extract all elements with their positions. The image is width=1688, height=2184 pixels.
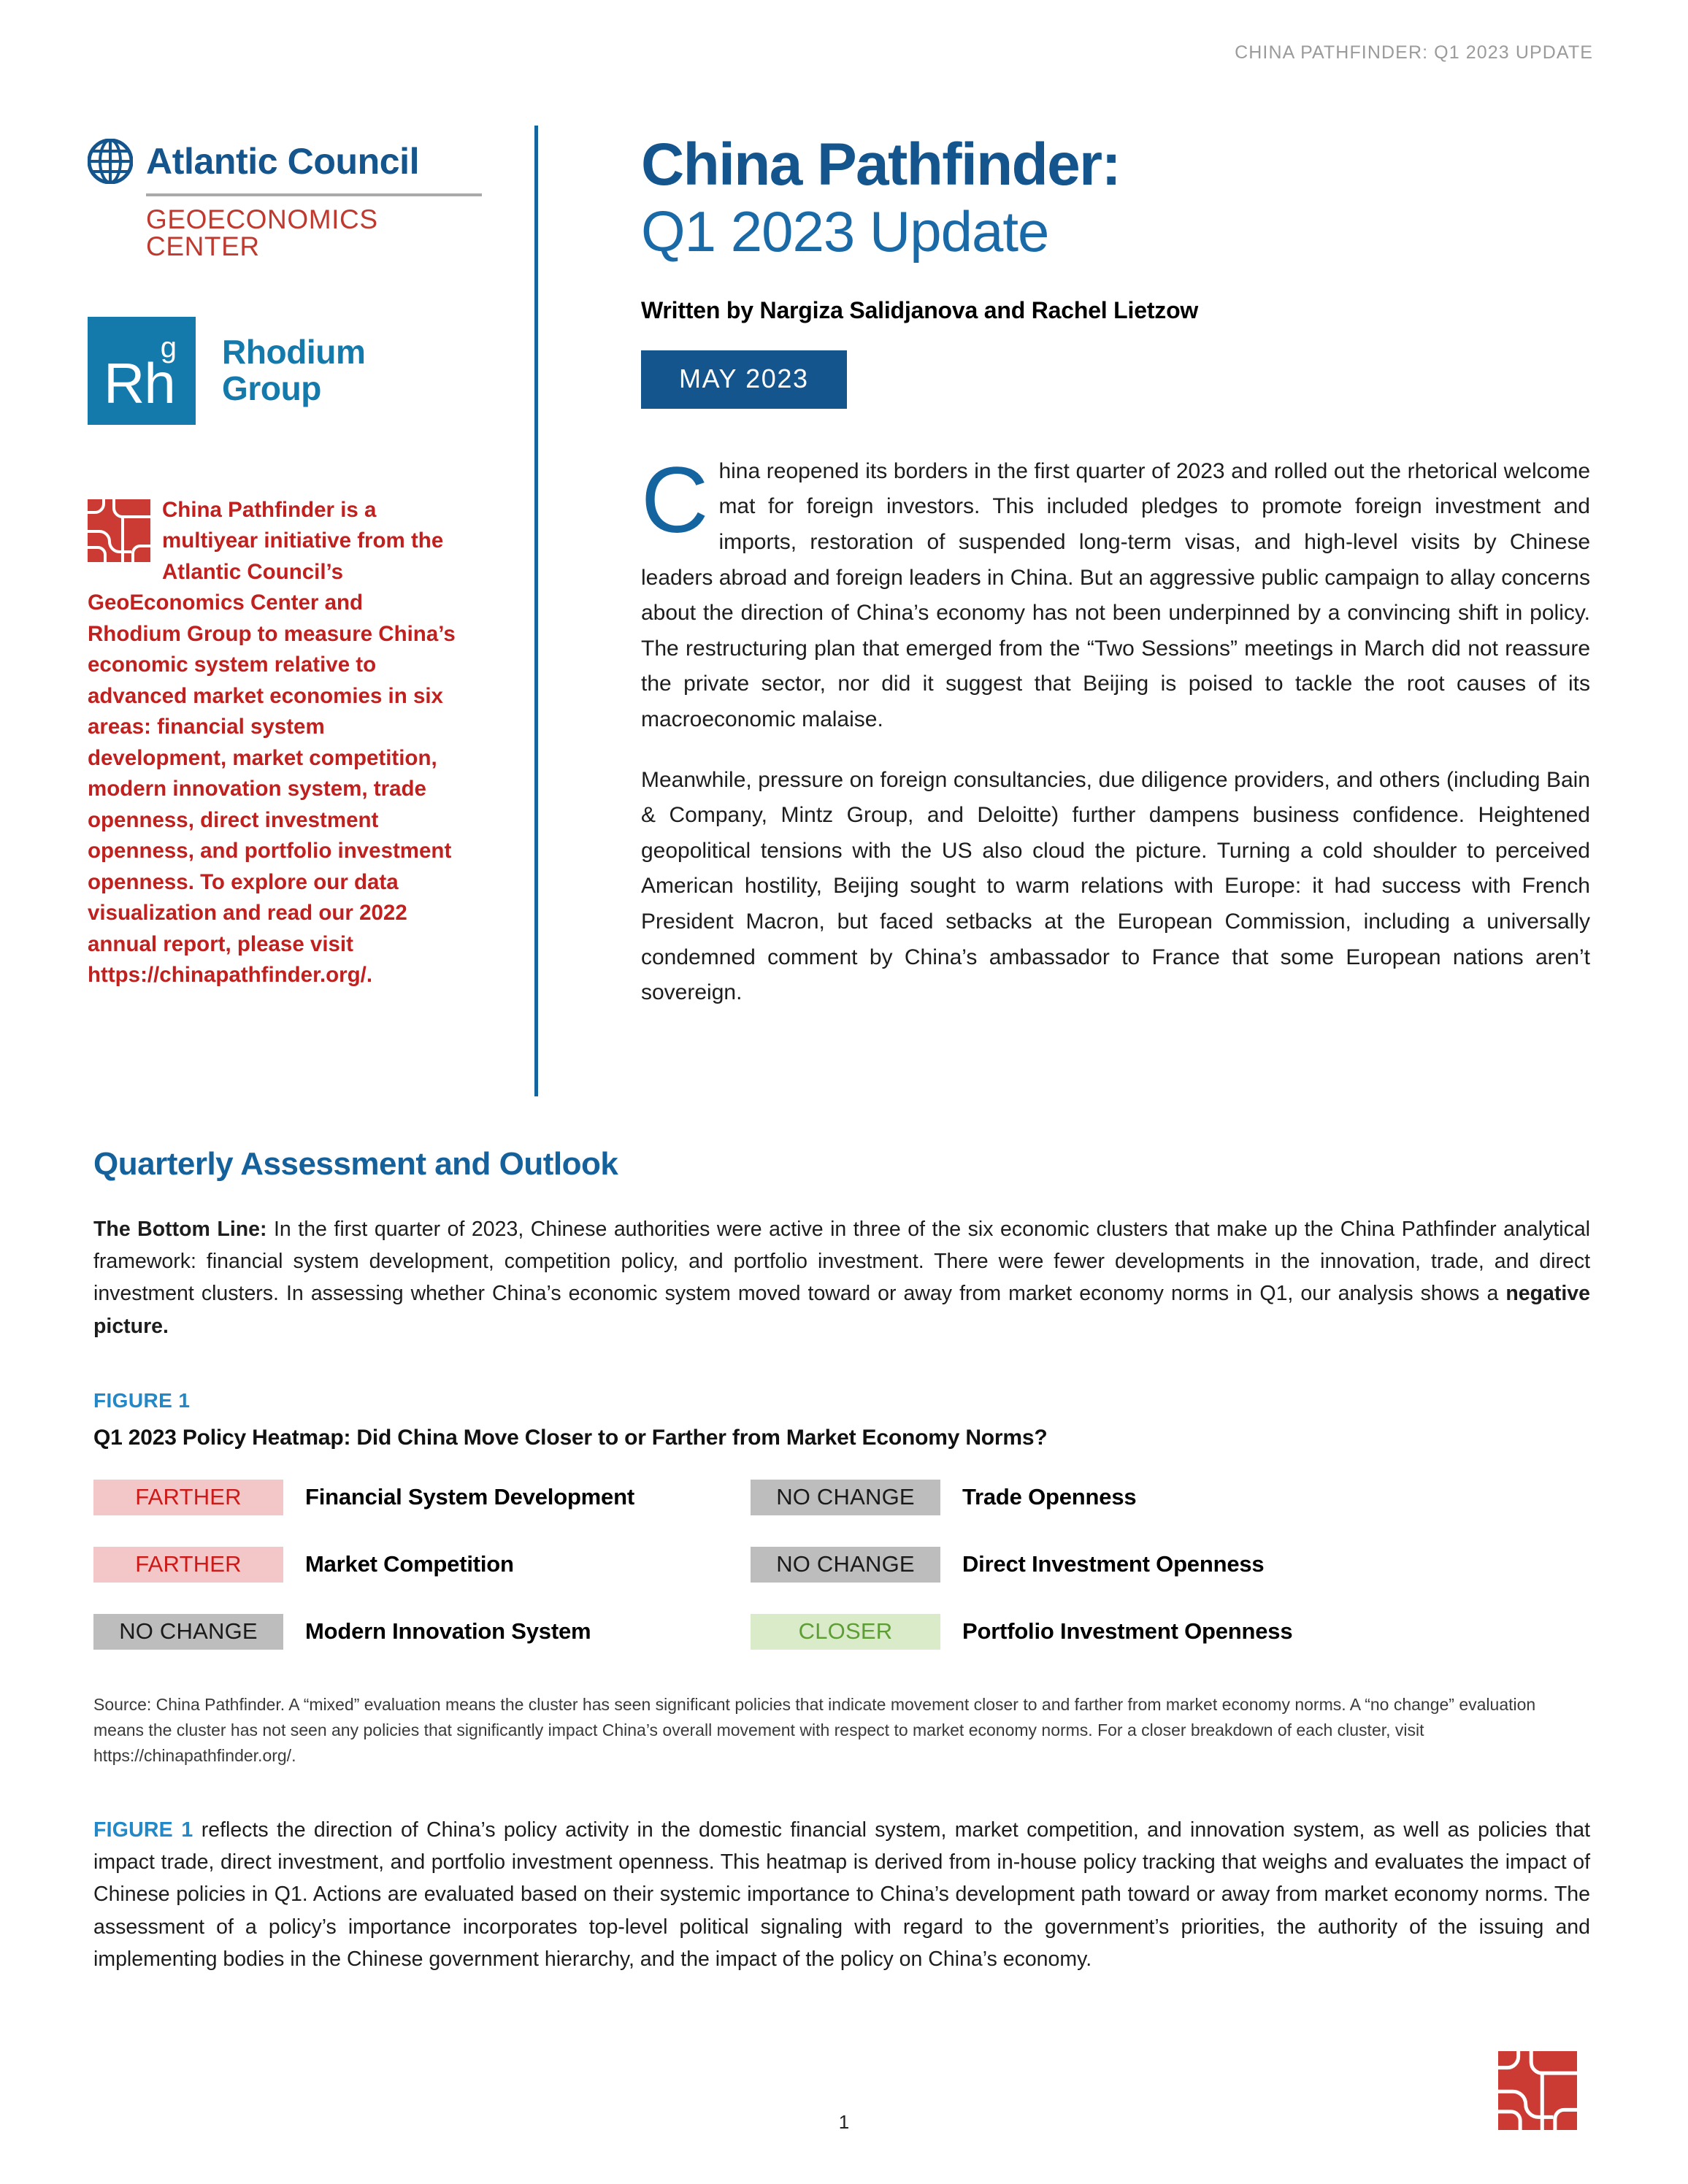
- column-divider: [534, 126, 538, 1096]
- assessment-section: Quarterly Assessment and Outlook The Bot…: [93, 1146, 1590, 1976]
- atlantic-council-wordmark: Atlantic Council: [146, 143, 419, 180]
- page-title-line2: Q1 2023 Update: [641, 202, 1590, 262]
- section-heading: Quarterly Assessment and Outlook: [93, 1146, 1590, 1183]
- status-badge: NO CHANGE: [751, 1480, 940, 1515]
- rhodium-wordmark-line2: Group: [222, 369, 321, 407]
- figure-source-note: Source: China Pathfinder. A “mixed” eval…: [93, 1692, 1576, 1769]
- policy-heatmap: FARTHER Financial System Development NO …: [93, 1480, 1590, 1650]
- date-badge: MAY 2023: [641, 350, 847, 409]
- masthead-column: China Pathfinder: Q1 2023 Update Written…: [641, 135, 1590, 1011]
- lede-text: hina reopened its borders in the first q…: [641, 459, 1590, 731]
- status-badge: FARTHER: [93, 1480, 283, 1515]
- status-badge: NO CHANGE: [751, 1547, 940, 1583]
- heatmap-cell: CLOSER Portfolio Investment Openness: [751, 1614, 1408, 1650]
- figure-label: FIGURE 1: [93, 1389, 1590, 1412]
- heatmap-cell: NO CHANGE Direct Investment Openness: [751, 1547, 1408, 1583]
- heatmap-cell: NO CHANGE Trade Openness: [751, 1480, 1408, 1515]
- heatmap-cluster-label: Financial System Development: [305, 1484, 634, 1510]
- left-sidebar: Atlantic Council GEOECONOMICS CENTER Rh …: [88, 139, 496, 991]
- globe-icon: [88, 139, 133, 184]
- bottom-line-text: In the first quarter of 2023, Chinese au…: [93, 1218, 1590, 1305]
- rhodium-wordmark: Rhodium Group: [222, 334, 366, 407]
- closing-text: reflects the direction of China’s policy…: [93, 1818, 1590, 1972]
- heatmap-cluster-label: Modern Innovation System: [305, 1618, 591, 1645]
- drop-cap: C: [641, 460, 708, 542]
- page-number: 1: [0, 2111, 1688, 2134]
- rhodium-group-logo: Rh g Rhodium Group: [88, 317, 496, 425]
- figure-title: Q1 2023 Policy Heatmap: Did China Move C…: [93, 1426, 1590, 1450]
- status-badge: NO CHANGE: [93, 1614, 283, 1650]
- heatmap-cluster-label: Portfolio Investment Openness: [962, 1618, 1292, 1645]
- logo-divider-rule: [146, 193, 482, 196]
- bottom-line-paragraph: The Bottom Line: In the first quarter of…: [93, 1213, 1590, 1342]
- rhodium-symbol-tile: Rh g: [88, 317, 196, 425]
- geoeconomics-center-label: GEOECONOMICS CENTER: [146, 206, 496, 260]
- status-badge: CLOSER: [751, 1614, 940, 1650]
- page-title-line1: China Pathfinder:: [641, 135, 1590, 195]
- bottom-line-label: The Bottom Line:: [93, 1218, 267, 1241]
- heatmap-cluster-label: Trade Openness: [962, 1484, 1136, 1510]
- heatmap-cell: FARTHER Financial System Development: [93, 1480, 751, 1515]
- atlantic-council-logo: Atlantic Council: [88, 139, 496, 184]
- lede-paragraph: China reopened its borders in the first …: [641, 454, 1590, 738]
- heatmap-cluster-label: Direct Investment Openness: [962, 1551, 1264, 1577]
- second-paragraph: Meanwhile, pressure on foreign consultan…: [641, 763, 1590, 1011]
- rhodium-wordmark-line1: Rhodium: [222, 333, 366, 371]
- running-header: CHINA PATHFINDER: Q1 2023 UPDATE: [1235, 42, 1593, 64]
- china-pathfinder-mark-icon: [88, 499, 150, 562]
- heatmap-cell: NO CHANGE Modern Innovation System: [93, 1614, 751, 1650]
- rhodium-symbol-superscript: g: [161, 333, 177, 362]
- about-text: China Pathfinder is a multiyear initiati…: [88, 498, 456, 987]
- byline: Written by Nargiza Salidjanova and Rache…: [641, 297, 1590, 324]
- figure-reference: FIGURE 1: [93, 1818, 193, 1842]
- china-pathfinder-footer-mark-icon: [1498, 2051, 1577, 2130]
- status-badge: FARTHER: [93, 1547, 283, 1583]
- about-block: China Pathfinder is a multiyear initiati…: [88, 495, 461, 991]
- heatmap-cluster-label: Market Competition: [305, 1551, 514, 1577]
- heatmap-cell: FARTHER Market Competition: [93, 1547, 751, 1583]
- closing-paragraph: FIGURE 1 reflects the direction of China…: [93, 1814, 1590, 1976]
